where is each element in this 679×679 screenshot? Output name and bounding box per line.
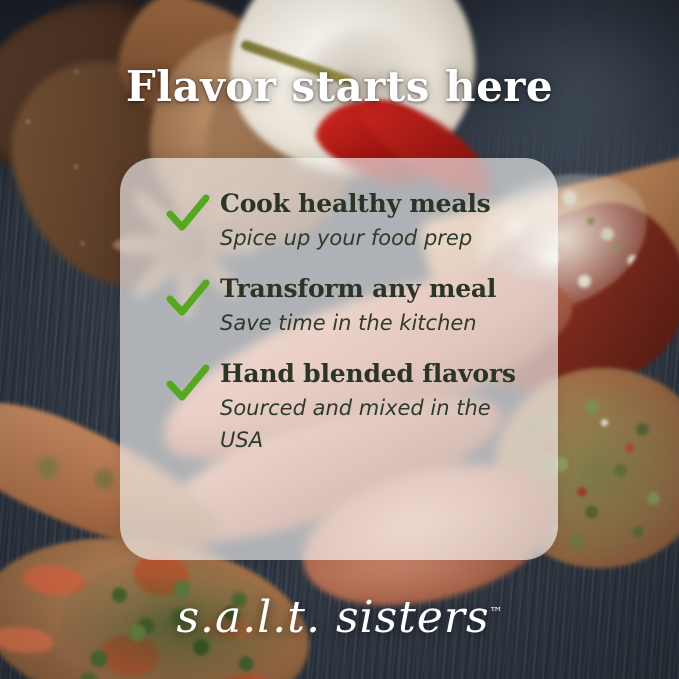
benefit-item-3: Hand blended flavors Sourced and mixed i… [158,360,528,457]
benefit-subtitle: Sourced and mixed in the USA [220,393,520,457]
benefit-item-1: Cook healthy meals Spice up your food pr… [158,190,528,255]
benefit-title: Cook healthy meals [220,190,528,218]
benefit-title: Hand blended flavors [220,360,528,388]
brand-name: s.a.l.t. sisters [176,592,489,643]
benefits-card: Cook healthy meals Spice up your food pr… [120,158,558,560]
trademark-symbol: ™ [490,605,503,620]
benefit-title: Transform any meal [220,275,528,303]
product-infographic: Flavor starts here Cook healthy meals Sp… [0,0,679,679]
benefit-subtitle: Save time in the kitchen [220,308,520,340]
check-icon [166,279,210,319]
benefit-item-2: Transform any meal Save time in the kitc… [158,275,528,340]
page-title: Flavor starts here [0,62,679,111]
benefits-list: Cook healthy meals Spice up your food pr… [120,158,558,560]
check-icon [166,364,210,404]
brand-logo: s.a.l.t. sisters™ [0,592,679,643]
benefit-subtitle: Spice up your food prep [220,223,520,255]
check-icon [166,194,210,234]
